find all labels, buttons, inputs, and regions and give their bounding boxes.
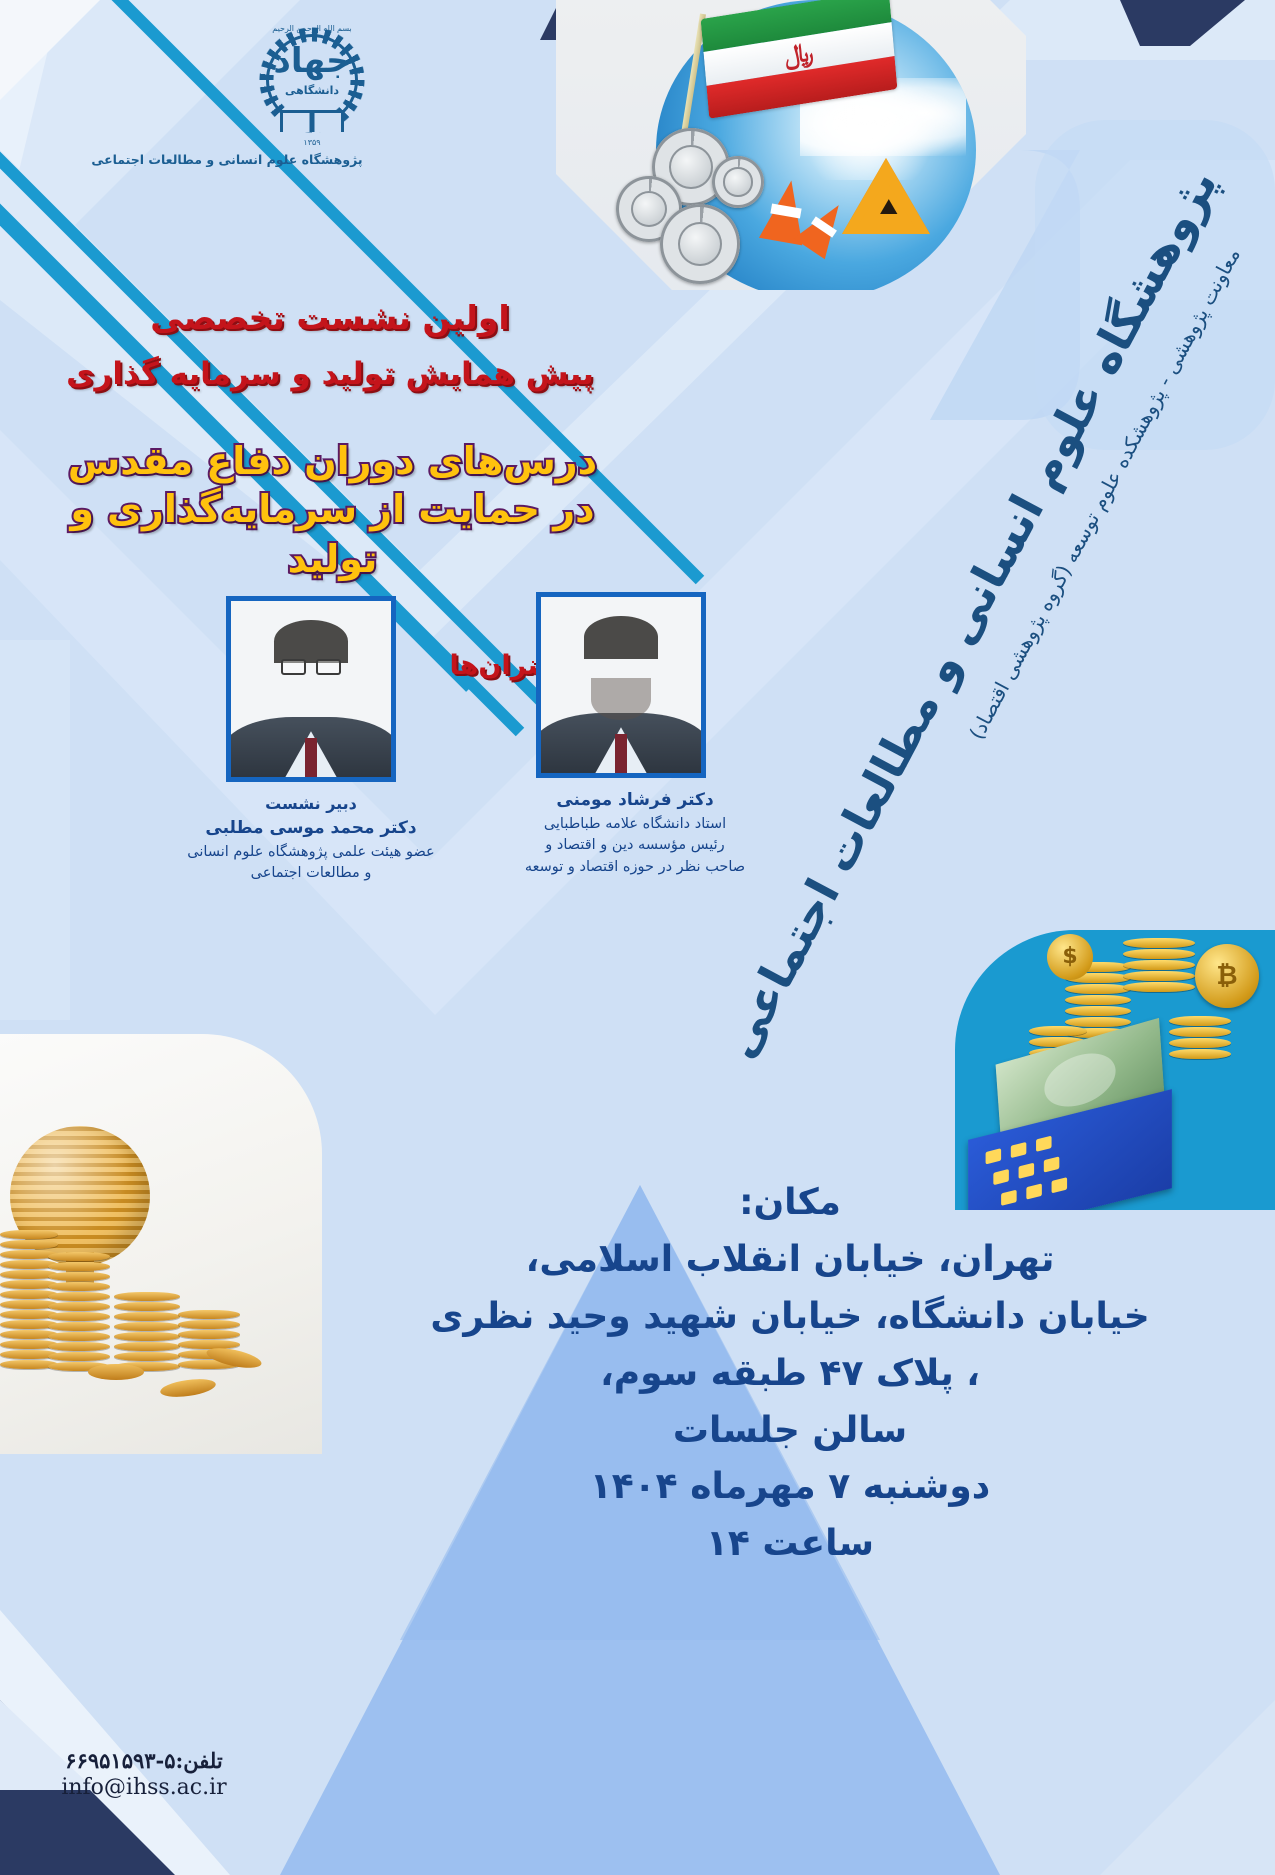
speaker-photo-momeni	[536, 592, 706, 778]
logo-bismillah: بسم الله الرحمن الرحیم	[252, 24, 372, 33]
event-time: ساعت ۱۴	[400, 1516, 1180, 1573]
coin-stack	[1123, 938, 1195, 993]
coin-stack	[114, 1292, 180, 1372]
speaker-affiliation-line: و مطالعات اجتماعی	[146, 863, 476, 885]
speaker-role: دبیر نشست	[146, 792, 476, 816]
glasses-icon	[281, 659, 342, 675]
logo-base-shape	[280, 110, 344, 132]
speaker-photo-motallebi	[226, 596, 396, 782]
venue-line: خیابان دانشگاه، خیابان شهید وحید نظری	[400, 1289, 1180, 1346]
portrait-illustration	[231, 601, 391, 777]
kicker-line-1: اولین نشست تخصصی	[60, 298, 600, 337]
portrait-hair	[584, 616, 658, 658]
main-title-line-2: در حمایت از سرمایه‌گذاری و تولید	[40, 484, 625, 584]
logo-main-word: جهاد	[252, 44, 372, 78]
contact-block: تلفن:۵-۶۶۹۵۱۵۹۳ info@ihss.ac.ir	[24, 1748, 264, 1800]
bitcoin-coin-icon: ₿	[1195, 944, 1259, 1008]
iran-emblem-icon: ﷼	[784, 39, 815, 69]
venue-line: سالن جلسات	[400, 1403, 1180, 1460]
speaker-name: دکتر فرشاد مومنی	[470, 788, 800, 814]
speaker-caption-motallebi: دبیر نشست دکتر محمد موسی مطلبی عضو هیئت …	[146, 792, 476, 885]
portrait-beard	[591, 678, 652, 720]
speaker-affiliation-line: استاد دانشگاه علامه طباطبایی	[470, 814, 800, 836]
event-date: دوشنبه ۷ مهرماه ۱۴۰۴	[400, 1459, 1180, 1516]
email-link[interactable]: info@ihss.ac.ir	[24, 1775, 264, 1800]
coins-globe-image	[0, 1034, 322, 1454]
coin	[88, 1364, 144, 1380]
venue-line: تهران، خیابان انقلاب اسلامی،	[400, 1232, 1180, 1289]
logo-sub-word: دانشگاهی	[252, 84, 372, 97]
venue-block: مکان: تهران، خیابان انقلاب اسلامی، خیابا…	[400, 1175, 1180, 1573]
portrait-illustration	[541, 597, 701, 773]
gear-small	[712, 156, 764, 208]
main-title-line-1: درس‌های دوران دفاع مقدس	[40, 436, 625, 486]
poster-canvas: ﷼ ⛰ بسم الله الرحمن الرحیم جهاد دانشگاهی…	[0, 0, 1275, 1875]
speaker-affiliation-line: عضو هیئت علمی پژوهشگاه علوم انسانی	[146, 842, 476, 864]
logo-caption: پژوهشگاه علوم انسانی و مطالعات اجتماعی	[62, 151, 392, 170]
flag-cloth: ﷼	[701, 0, 898, 119]
hero-image: ﷼ ⛰	[556, 0, 1026, 290]
gear-bottom	[660, 204, 740, 284]
worker-glyph: ⛰	[874, 196, 898, 222]
venue-label: مکان:	[400, 1175, 1180, 1232]
speaker-affiliation-line: رئیس مؤسسه دین و اقتصاد و	[470, 835, 800, 857]
construction-sign-icon: ⛰	[842, 158, 930, 234]
portrait-tie	[305, 738, 318, 777]
dollar-coin-icon: $	[1047, 934, 1093, 980]
institute-logo: بسم الله الرحمن الرحیم جهاد دانشگاهی ۱۳۵…	[232, 20, 392, 147]
money-calculator-image: ₿ $	[955, 930, 1275, 1210]
kicker-line-2: پیش همایش تولید و سرمایه گذاری	[60, 356, 600, 392]
portrait-tie	[615, 734, 628, 773]
speaker-caption-momeni: دکتر فرشاد مومنی استاد دانشگاه علامه طبا…	[470, 788, 800, 879]
coin	[159, 1376, 217, 1400]
coin-stack	[48, 1252, 110, 1372]
coin-stack	[1169, 1016, 1231, 1060]
jihad-daneshgahi-seal: بسم الله الرحمن الرحیم جهاد دانشگاهی	[252, 20, 372, 140]
speaker-name: دکتر محمد موسی مطلبی	[146, 816, 476, 842]
portrait-hair	[274, 620, 348, 662]
phone-number: تلفن:۵-۶۶۹۵۱۵۹۳	[24, 1748, 264, 1773]
venue-line: ، پلاک ۴۷ طبقه سوم،	[400, 1346, 1180, 1403]
speaker-affiliation-line: صاحب نظر در حوزه اقتصاد و توسعه	[470, 857, 800, 879]
